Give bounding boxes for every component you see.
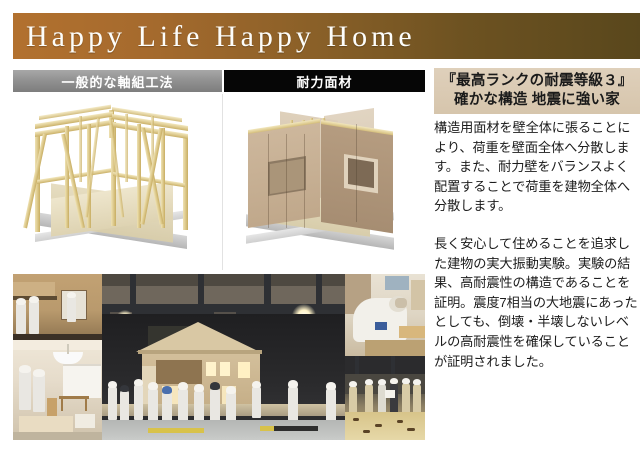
side-panel-title-line2: 確かな構造 地震に強い家 [454, 91, 620, 110]
column-label-structural-panel: 耐力面材 [224, 70, 425, 92]
paragraph-spacer [434, 216, 640, 234]
column-label-conventional-text: 一般的な軸組工法 [13, 70, 222, 92]
photo-shake-table-house [102, 274, 345, 440]
side-panel-title: 『最高ランクの耐震等級３』 確かな構造 地震に強い家 [434, 68, 640, 114]
side-panel-paragraph-1: 構造用面材を壁全体に張ることにより、荷重を壁面全体へ分散します。また、耐力壁をバ… [434, 118, 640, 216]
photo-worker-closeup [345, 274, 425, 356]
diagram-conventional-frame [13, 94, 222, 270]
photo-interior-inspection [13, 274, 102, 340]
poster-canvas: Happy Life Happy Home 一般的な軸組工法 耐力面材 [0, 0, 640, 452]
column-label-conventional: 一般的な軸組工法 [13, 70, 222, 92]
panel-divider [222, 94, 223, 270]
side-panel-title-line1: 『最高ランクの耐震等級３』 [441, 72, 632, 91]
column-label-structural-panel-text: 耐力面材 [224, 70, 425, 92]
side-panel-body: 構造用面材を壁全体に張ることにより、荷重を壁面全体へ分散します。また、耐力壁をバ… [434, 118, 640, 371]
page-title: Happy Life Happy Home [26, 15, 416, 59]
side-panel-paragraph-2: 長く安心して住めることを追求した建物の実大振動実験。実験の結果、高耐震性の構造で… [434, 234, 640, 371]
diagram-structural-panel [224, 94, 425, 270]
photo-inspection-group [345, 356, 425, 440]
photo-collage [13, 274, 425, 440]
photo-living-room [13, 340, 102, 440]
